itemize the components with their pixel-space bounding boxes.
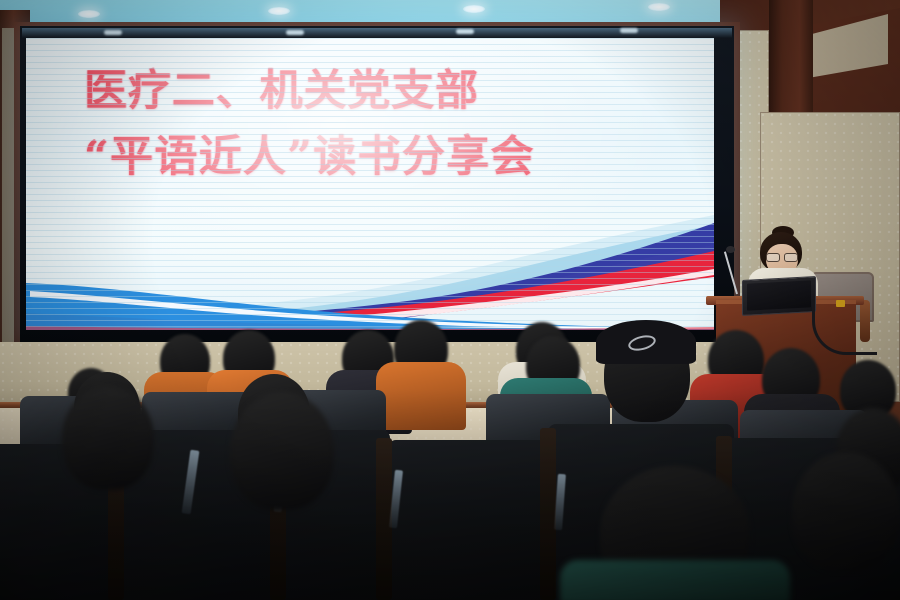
slide-title-line-1: 医疗二、机关党支部 — [84, 64, 714, 120]
eyeglasses-icon — [766, 253, 797, 260]
conference-room-photo: 医疗二、机关党支部 “平语近人”读书分享会 — [0, 0, 900, 600]
microphone-head-icon — [726, 246, 735, 253]
wave-ribbons-svg — [26, 205, 714, 330]
downlight-icon — [78, 10, 100, 18]
audience-torso — [376, 362, 466, 430]
slide-wave-graphic — [26, 205, 714, 330]
seat-divider-rail — [540, 428, 556, 600]
led-presentation-screen: 医疗二、机关党支部 “平语近人”读书分享会 — [26, 38, 714, 330]
laptop-screen — [747, 280, 811, 310]
bezel-light-reflection — [286, 30, 304, 35]
audience-head — [230, 392, 334, 510]
downlight-icon — [648, 3, 670, 11]
bezel-light-reflection — [620, 28, 638, 33]
slide-title-line-2: “平语近人”读书分享会 — [84, 130, 714, 186]
downlight-icon — [463, 5, 485, 13]
audience-torso — [560, 560, 790, 600]
laptop — [742, 276, 816, 316]
bezel-light-reflection — [104, 30, 122, 35]
audience-head — [792, 452, 900, 572]
slide-title: 医疗二、机关党支部 “平语近人”读书分享会 — [26, 64, 714, 186]
downlight-icon — [268, 7, 290, 15]
bezel-light-reflection — [456, 29, 474, 34]
foreground-seat — [388, 440, 556, 600]
cable-clip — [836, 300, 845, 307]
audience-head — [62, 386, 154, 490]
